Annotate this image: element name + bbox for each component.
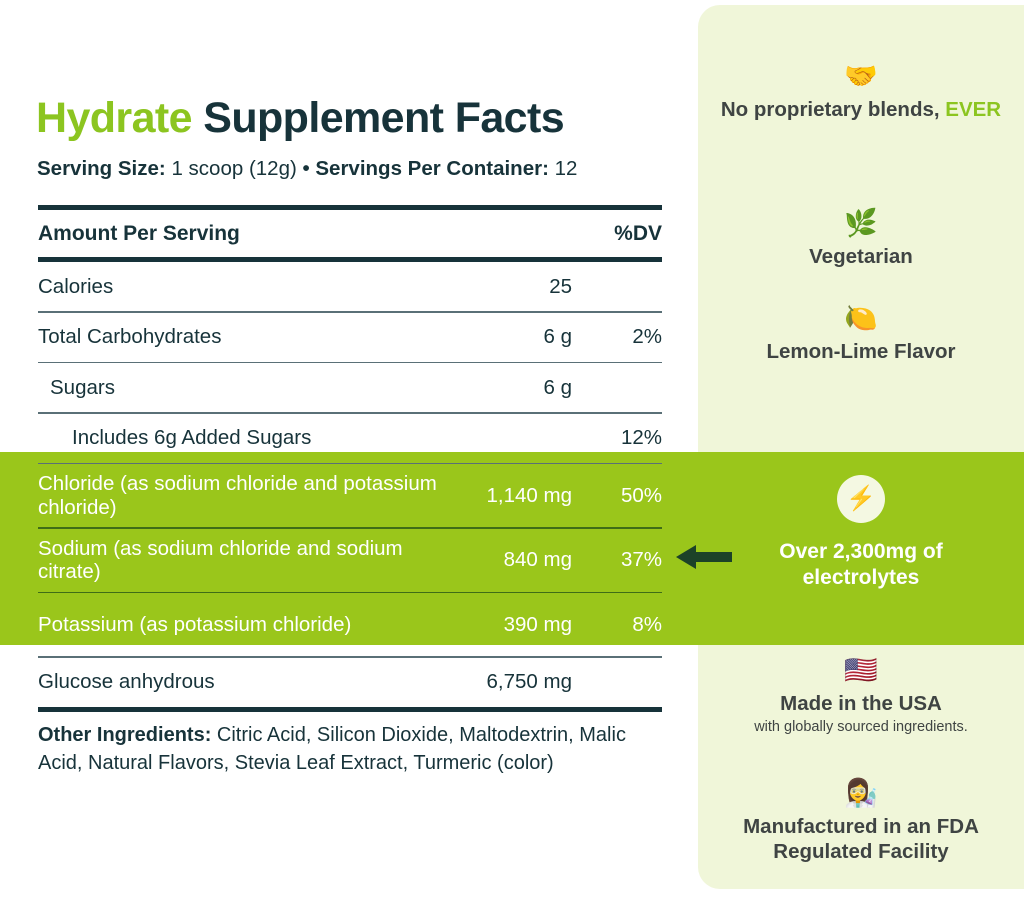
- lemon-icon: 🍋: [698, 305, 1024, 332]
- benefit-label: Made in the USA: [698, 691, 1024, 716]
- row-amount: 1,140 mg: [454, 484, 572, 508]
- benefit-made-in-usa: 🇺🇸 Made in the USA with globally sourced…: [698, 657, 1024, 737]
- table-row: Sodium (as sodium chloride and sodium ci…: [38, 529, 662, 592]
- row-amount: 6 g: [454, 376, 572, 400]
- row-name: Total Carbohydrates: [38, 325, 454, 348]
- other-ingredients: Other Ingredients: Citric Acid, Silicon …: [38, 721, 663, 778]
- table-row: Sugars 6 g: [38, 363, 662, 412]
- benefit-text-highlight: EVER: [945, 98, 1001, 121]
- table-row: Potassium (as potassium chloride) 390 mg…: [38, 593, 662, 656]
- row-amount: 25: [454, 275, 572, 299]
- benefit-no-proprietary-blends: 🤝 No proprietary blends, EVER: [698, 63, 1024, 122]
- benefit-label: Vegetarian: [698, 244, 1024, 269]
- benefit-flavor: 🍋 Lemon-Lime Flavor: [698, 305, 1024, 364]
- benefit-electrolytes: ⚡ Over 2,300mg of electrolytes: [698, 475, 1024, 592]
- lightning-bolt-icon: ⚡: [837, 475, 885, 523]
- header-amount-per-serving: Amount Per Serving: [38, 222, 454, 246]
- us-flag-icon: 🇺🇸: [698, 657, 1024, 684]
- serving-separator: •: [303, 157, 316, 180]
- other-ingredients-label: Other Ingredients:: [38, 724, 211, 746]
- row-name: Calories: [38, 275, 454, 298]
- benefit-vegetarian: 🌿 Vegetarian: [698, 210, 1024, 269]
- serving-size-label: Serving Size:: [37, 157, 166, 180]
- row-dv: 50%: [572, 484, 662, 508]
- benefit-label: Manufactured in an FDA Regulated Facilit…: [698, 814, 1024, 864]
- row-dv: 8%: [572, 613, 662, 637]
- table-header-row: Amount Per Serving %DV: [38, 210, 662, 257]
- benefit-text: No proprietary blends,: [721, 98, 945, 121]
- row-name: Potassium (as potassium chloride): [38, 613, 454, 636]
- row-dv: 37%: [572, 548, 662, 572]
- row-amount: 390 mg: [454, 613, 572, 637]
- benefit-subtext: with globally sourced ingredients.: [698, 718, 1024, 737]
- serving-info: Serving Size: 1 scoop (12g) • Servings P…: [37, 157, 577, 181]
- header-dv: %DV: [572, 222, 662, 246]
- benefit-label: Lemon-Lime Flavor: [698, 339, 1024, 364]
- serving-size-value: 1 scoop (12g): [166, 157, 303, 180]
- table-row: Calories 25: [38, 262, 662, 311]
- nutrition-table: Amount Per Serving %DV Calories 25 Total…: [38, 205, 662, 712]
- row-name: Sugars: [38, 376, 454, 399]
- table-row: Includes 6g Added Sugars 12%: [38, 414, 662, 463]
- benefit-label: Over 2,300mg of electrolytes: [698, 539, 1024, 592]
- benefit-fda-facility: 👩‍🔬 Manufactured in an FDA Regulated Fac…: [698, 780, 1024, 864]
- row-amount: 6,750 mg: [454, 670, 572, 694]
- benefit-label: No proprietary blends, EVER: [698, 97, 1024, 122]
- table-row: Total Carbohydrates 6 g 2%: [38, 313, 662, 362]
- row-amount: 6 g: [454, 325, 572, 349]
- herb-icon: 🌿: [698, 210, 1024, 237]
- page-title: Hydrate Supplement Facts: [36, 94, 564, 143]
- servings-per-container-label: Servings Per Container:: [315, 157, 549, 180]
- row-dv: 12%: [572, 426, 662, 450]
- row-amount: 840 mg: [454, 548, 572, 572]
- left-arrow-icon: [672, 540, 734, 574]
- benefits-panel-content: 🤝 No proprietary blends, EVER 🌿 Vegetari…: [698, 5, 1024, 889]
- table-row: Chloride (as sodium chloride and potassi…: [38, 464, 662, 527]
- row-name: Includes 6g Added Sugars: [38, 426, 454, 449]
- supplement-facts-label: Hydrate Supplement Facts Serving Size: 1…: [0, 0, 698, 900]
- scientist-icon: 👩‍🔬: [698, 780, 1024, 807]
- row-name: Sodium (as sodium chloride and sodium ci…: [38, 537, 454, 584]
- servings-per-container-value: 12: [549, 157, 578, 180]
- row-name: Chloride (as sodium chloride and potassi…: [38, 472, 454, 519]
- row-dv: 2%: [572, 325, 662, 349]
- title-brand: Hydrate: [36, 94, 192, 142]
- handshake-icon: 🤝: [698, 63, 1024, 90]
- table-bottom-rule: [38, 707, 662, 712]
- title-rest: Supplement Facts: [192, 94, 564, 142]
- table-row: Glucose anhydrous 6,750 mg: [38, 658, 662, 707]
- row-name: Glucose anhydrous: [38, 670, 454, 693]
